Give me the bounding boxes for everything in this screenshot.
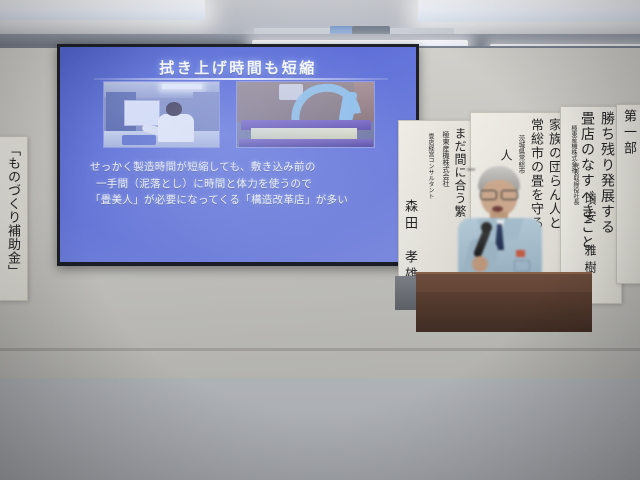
projection-screen: 拭き上げ時間も短縮: [57, 44, 419, 266]
banner-koroyasu-role: 代表取締役社長: [571, 163, 580, 205]
factory-worker-photo: [103, 81, 220, 148]
slide-body-text: せっかく製造時間が短縮しても、敷き込み前の 一手間（泥落とし）に時間と体力を使う…: [90, 159, 392, 209]
banner-joso-tail: 人: [498, 149, 515, 164]
slide-title-underline: [94, 78, 388, 80]
projected-slide: 拭き上げ時間も短縮: [60, 47, 416, 262]
banner-morita-company: 極東産機株式会社: [441, 131, 451, 187]
ceiling: [0, 0, 640, 48]
banner-koroyasu-line-1: 勝ち残り発展する: [597, 111, 617, 235]
ceiling-light-right: [418, 0, 640, 22]
slide-body-line-3: 「畳美人」が必要になってくる「構造改革店」が多い: [90, 192, 392, 209]
banner-morita-role: 畳店経営コンサルタント: [426, 133, 435, 199]
slide-body-line-2: 一手間（泥落とし）に時間と体力を使うので: [90, 176, 392, 193]
seminar-photo: 拭き上げ時間も短縮: [0, 0, 640, 480]
slide-body-line-1: せっかく製造時間が短縮しても、敷き込み前の: [90, 159, 392, 176]
banner-part-one-text: 第一部: [619, 109, 638, 157]
slide-title: 拭き上げ時間も短縮: [60, 57, 416, 78]
tatami-machine-photo: [236, 81, 375, 148]
speaker-glasses: [480, 190, 518, 198]
microphone-head: [481, 222, 492, 233]
ceiling-light-left: [0, 0, 205, 20]
audience: [0, 250, 640, 480]
